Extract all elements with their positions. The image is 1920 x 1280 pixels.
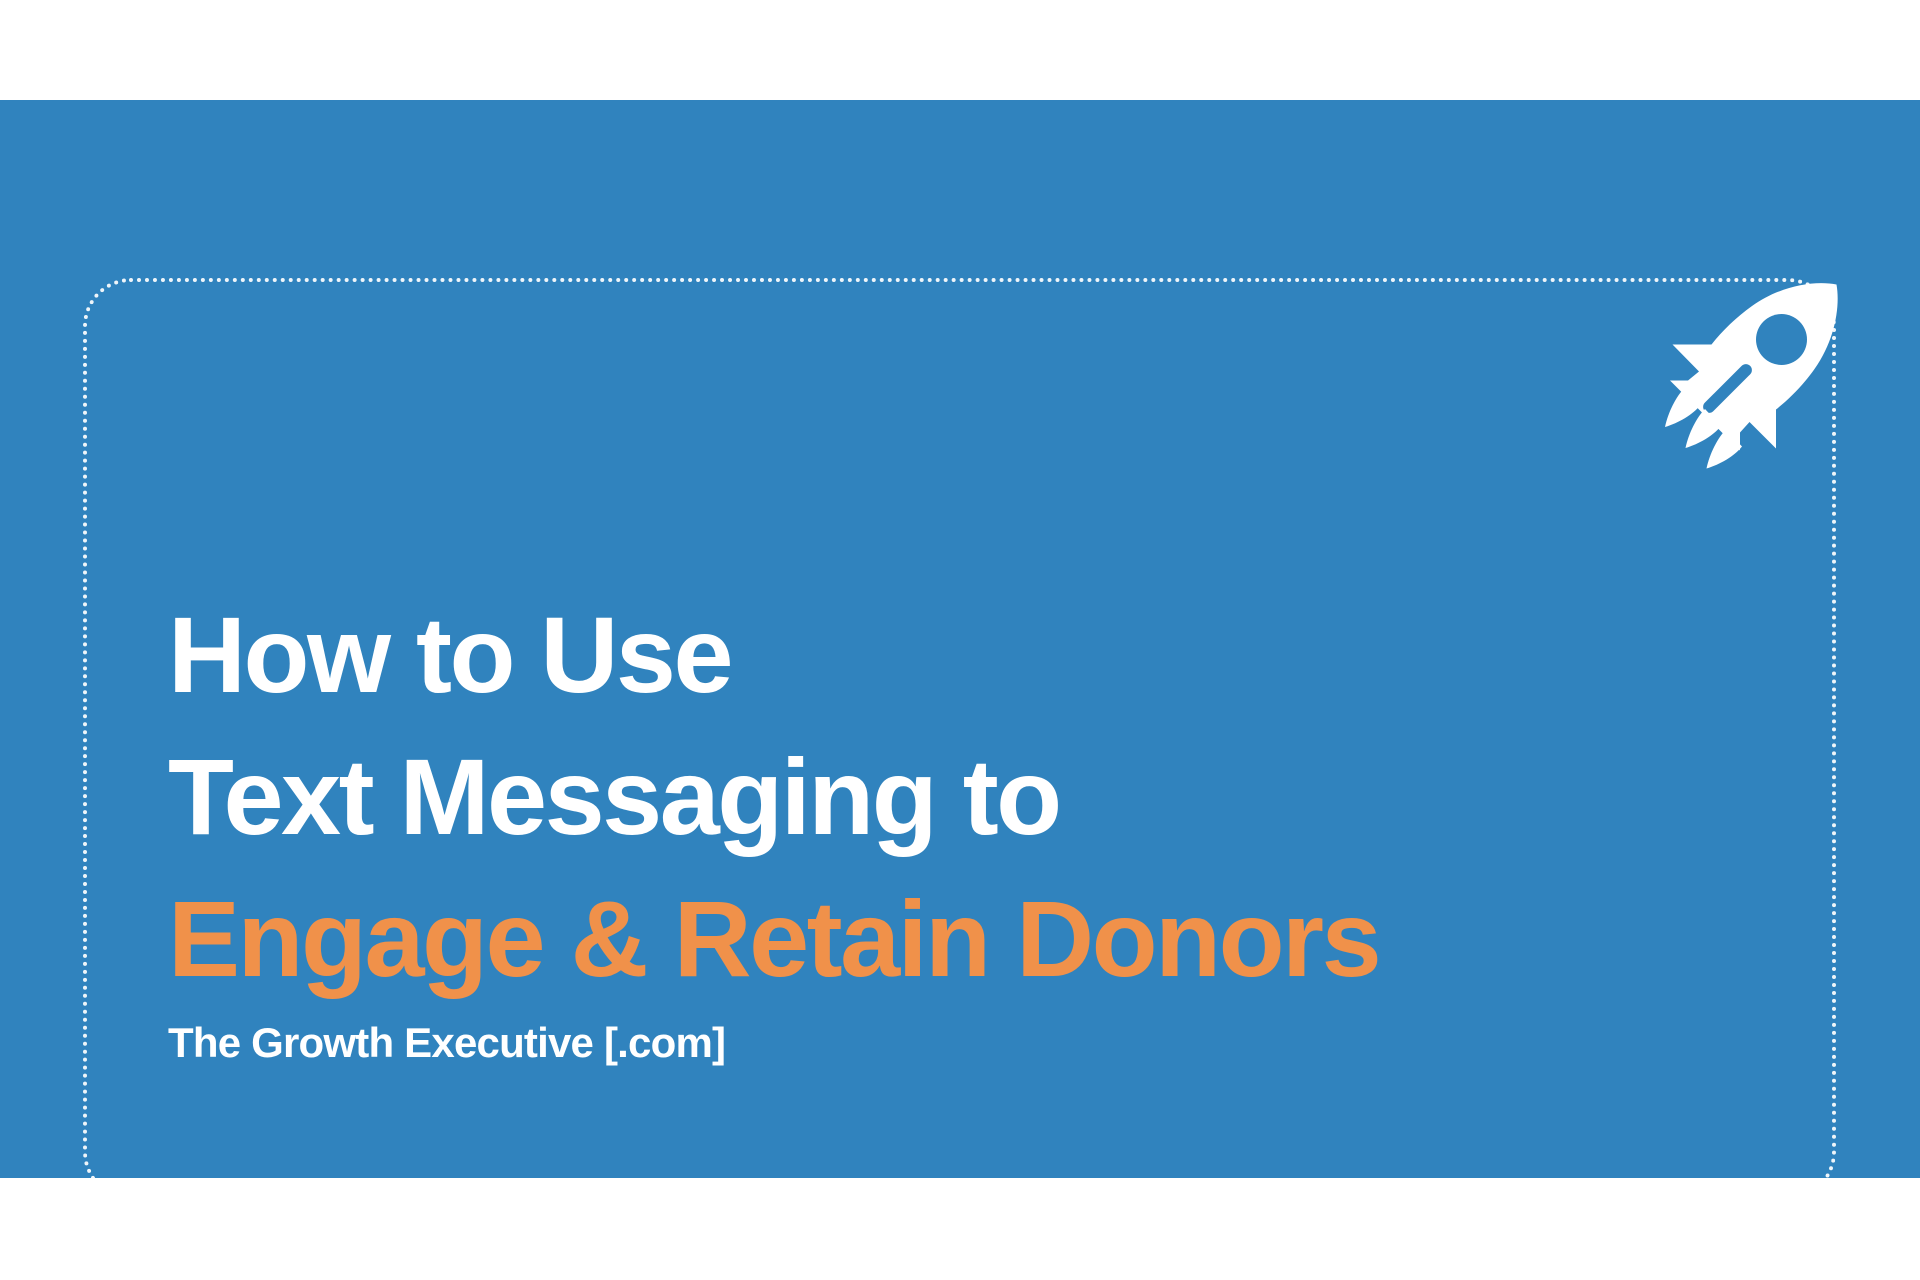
title-banner: How to Use Text Messaging to Engage & Re… (0, 100, 1920, 1178)
slide-canvas: How to Use Text Messaging to Engage & Re… (0, 0, 1920, 1280)
brand-subtitle: The Growth Executive [.com] (168, 1016, 1668, 1070)
rocket-icon (1648, 272, 1848, 472)
headline-line-3-accent: Engage & Retain Donors (168, 868, 1668, 1010)
title-text-block: How to Use Text Messaging to Engage & Re… (168, 584, 1668, 1070)
headline-line-2: Text Messaging to (168, 726, 1668, 868)
headline-line-1: How to Use (168, 584, 1668, 726)
